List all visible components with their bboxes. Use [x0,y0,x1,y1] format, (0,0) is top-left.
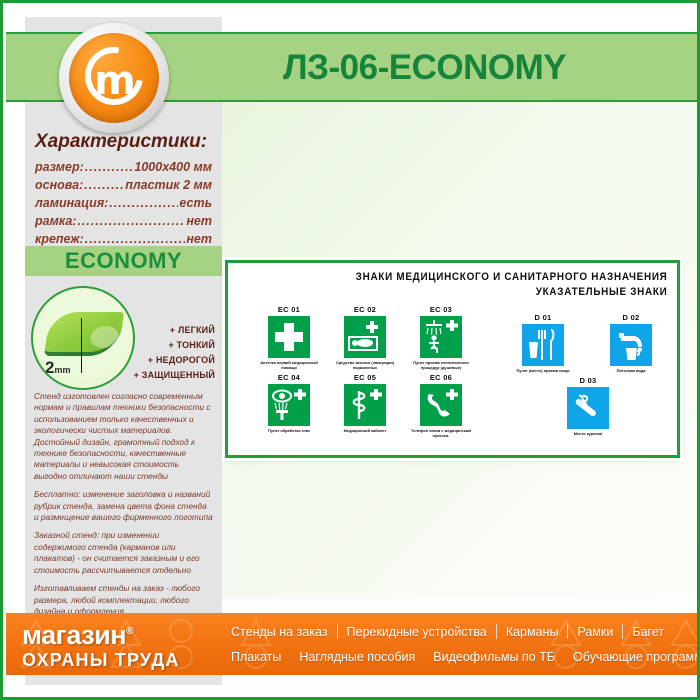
plastic-sheet-shape [44,312,124,356]
char-value: нет [186,214,212,228]
footer-link[interactable]: Стенды на заказ [222,625,337,639]
dot-leader: .................................. [85,232,186,246]
safety-shower-icon [420,316,462,358]
char-key: основа: [35,178,83,192]
feature-list: + ЛЕГКИЙ + ТОНКИЙ + НЕДОРОГОЙ + ЗАЩИЩЕНН… [133,325,223,385]
direction-signs-grid: D 01 Пункт (место) приема пищи D 02 [508,313,668,439]
characteristics-row: рамка: .................................… [35,214,212,228]
signs-row: D 01 Пункт (место) приема пищи D 02 [508,313,668,376]
medical-signs-grid: EC 01 Аптечка первой медицинской помощи … [258,305,473,441]
feature-item: + ЛЕГКИЙ [133,325,215,335]
sign-code: EC 03 [410,305,472,314]
sign-caption: Пункт обработки глаз [258,428,320,433]
sign-cell[interactable]: EC 06 Телефон связи с медицинским пункто… [410,373,472,438]
description-paragraph: Заказной стенд: при изменении содержимог… [34,530,213,576]
sign-cell[interactable]: EC 03 Пункт приема гигиенических процеду… [410,305,472,370]
magazin-m-logo-icon: m [59,23,169,133]
char-value: пластик 2 мм [125,178,212,192]
sign-cell[interactable]: EC 04 Пункт обработки глаз [258,373,320,438]
telephone-icon [420,384,462,426]
stretcher-icon [344,316,386,358]
sign-caption: Место курения [553,431,623,436]
characteristics-row: основа: ................................… [35,178,212,192]
sign-code: D 02 [596,313,666,322]
description-paragraph: Стенд изготовлен согласно современным но… [34,391,213,482]
characteristics-row: размер: ................................… [35,160,212,174]
sign-caption: Пункт (место) приема пищи [508,368,578,373]
sign-cell[interactable]: D 02 Питьевая вода [596,313,666,373]
footer-link[interactable]: Наглядные пособия [290,650,424,664]
sign-cell[interactable]: D 01 Пункт (место) приема пищи [508,313,578,373]
characteristics-row: ламинация: .............................… [35,196,212,210]
stand-heading-line1: ЗНАКИ МЕДИЦИНСКОГО И САНИТАРНОГО НАЗНАЧЕ… [355,271,667,283]
sign-caption: Средство выноса (эвакуации) пораженных [334,360,396,370]
poster-page: ЛЗ-06-ECONOMY m Характеристики: размер: … [0,0,700,700]
footer-link[interactable]: Обучающие программы [564,650,700,664]
sign-caption: Аптечка первой медицинской помощи [258,360,320,370]
dot-leader: .................................. [109,196,178,210]
stand-preview-panel[interactable]: ЗНАКИ МЕДИЦИНСКОГО И САНИТАРНОГО НАЗНАЧЕ… [225,260,680,458]
site-footer: магазин® ОХРАНЫ ТРУДА Стенды на заказ Пе… [6,613,700,675]
footer-link-row-2: Плакаты Наглядные пособия Видеофильмы по… [222,644,692,669]
signs-row: EC 01 Аптечка первой медицинской помощи … [258,305,473,373]
thickness-illustration-icon: 2mm [31,286,135,390]
signs-row: EC 04 Пункт обработки глаз EC 05 [258,373,473,441]
footer-link[interactable]: Рамки [568,625,622,639]
description-block: Стенд изготовлен согласно современным но… [25,391,222,624]
sign-code: D 03 [553,376,623,385]
smoking-area-icon [567,387,609,429]
footer-brand-line1: магазин® [22,617,217,650]
characteristics-block: Характеристики: размер: ................… [25,131,222,250]
registered-mark-icon: ® [126,626,133,637]
sign-caption: Телефон связи с медицинским пунктом. [410,428,472,438]
feature-item: + НЕДОРОГОЙ [133,355,215,365]
footer-brand-logo[interactable]: магазин® ОХРАНЫ ТРУДА [22,617,217,671]
logo-letter-m: m [92,61,138,101]
sign-code: D 01 [508,313,578,322]
footer-link[interactable]: Видеофильмы по ТБ [424,650,564,664]
footer-link[interactable]: Перекидные устройства [338,625,496,639]
dot-leader: .................................. [85,160,134,174]
stand-heading: ЗНАКИ МЕДИЦИНСКОГО И САНИТАРНОГО НАЗНАЧЕ… [321,271,668,298]
char-key: рамка: [35,214,76,228]
cutlery-glass-icon [522,324,564,366]
sign-cell[interactable]: EC 05 Медицинский кабинет [334,373,396,438]
sign-caption: Питьевая вода [596,368,666,373]
char-key: ламинация: [35,196,108,210]
footer-link[interactable]: Карманы [497,625,568,639]
sign-cell[interactable]: D 03 Место курения [553,376,623,436]
footer-link[interactable]: Багет [623,625,673,639]
dot-leader: .................................. [77,214,185,228]
sign-cell[interactable]: EC 02 Средство выноса (эвакуации) пораже… [334,305,396,370]
characteristics-row: крепеж: ................................… [35,232,212,246]
characteristics-title: Характеристики: [35,131,212,153]
sign-code: EC 02 [334,305,396,314]
feature-item: + ЗАЩИЩЕННЫЙ [133,370,215,380]
sign-code: EC 06 [410,373,472,382]
stand-heading-line2: УКАЗАТЕЛЬНЫЕ ЗНАКИ [355,286,667,298]
logo-orange-disc: m [69,33,159,123]
sign-code: EC 04 [258,373,320,382]
sign-cell[interactable]: EC 01 Аптечка первой медицинской помощи [258,305,320,370]
page-title: ЛЗ-06-ECONOMY [283,43,683,93]
footer-brand-line2: ОХРАНЫ ТРУДА [22,650,217,671]
footer-link[interactable]: Плакаты [222,650,290,664]
first-aid-cross-icon [268,316,310,358]
char-value: 1000х400 мм [134,160,212,174]
sign-caption: Медицинский кабинет [334,428,396,433]
thickness-label: 2mm [45,358,70,378]
sign-caption: Пункт приема гигиенических процедур (душ… [410,360,472,370]
signs-row: D 03 Место курения [508,376,668,439]
char-value: есть [179,196,212,210]
char-key: крепеж: [35,232,84,246]
sign-code: EC 05 [334,373,396,382]
dot-leader: .................................. [84,178,124,192]
rod-of-asclepius-icon [344,384,386,426]
eye-wash-icon [268,384,310,426]
char-value: нет [186,232,212,246]
sign-code: EC 01 [258,305,320,314]
feature-item: + ТОНКИЙ [133,340,215,350]
char-key: размер: [35,160,84,174]
footer-links: Стенды на заказ Перекидные устройства Ка… [222,619,692,669]
description-paragraph: Бесплатно: изменение заголовка и названи… [34,489,213,523]
sheet-highlight [89,326,120,348]
footer-link-row-1: Стенды на заказ Перекидные устройства Ка… [222,619,692,644]
economy-badge: ECONOMY [25,246,222,276]
measure-line [81,318,82,373]
tap-water-icon [610,324,652,366]
